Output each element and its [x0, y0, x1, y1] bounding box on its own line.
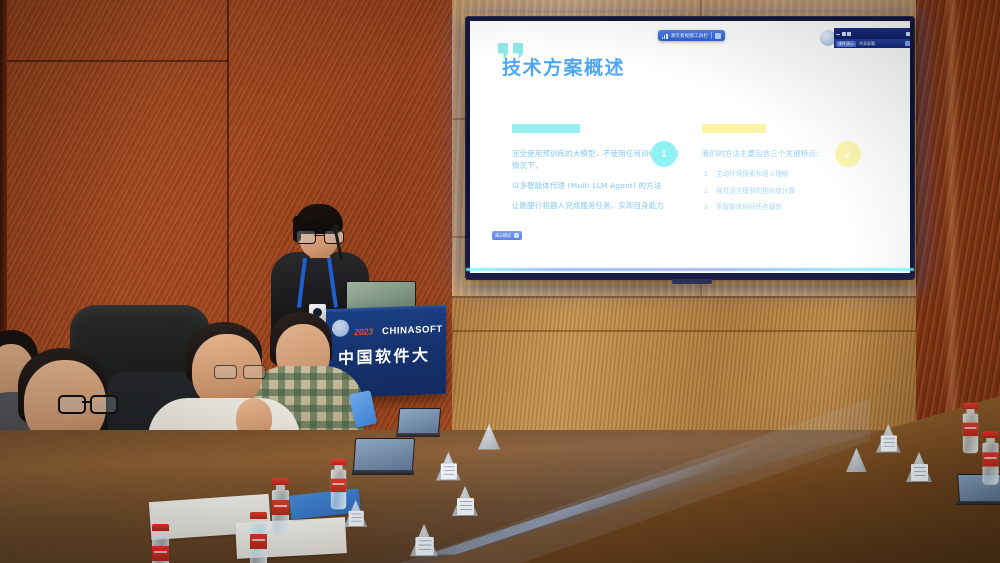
tab-courseware[interactable]: 课件演示	[836, 41, 856, 47]
conference-logo-icon	[332, 319, 349, 337]
list-number: 3.	[704, 202, 710, 214]
slide-canvas: 技术方案概述 演示者视图工具栏	[470, 21, 910, 273]
window-extra-control[interactable]	[906, 32, 910, 36]
conference-room-photo: 技术方案概述 演示者视图工具栏	[0, 0, 1000, 563]
display-stand	[672, 279, 712, 284]
tab-screenshare[interactable]: 共享屏幕	[859, 41, 875, 47]
meeting-window-overlay[interactable]: 课件演示 共享屏幕	[820, 28, 908, 50]
presentation-display[interactable]: 技术方案概述 演示者视图工具栏	[470, 21, 910, 273]
list-text: 主动环境探索和语义理解	[716, 171, 789, 178]
water-bottle	[152, 524, 169, 563]
list-number: 1.	[704, 169, 710, 181]
minimize-icon	[836, 34, 840, 35]
water-bottle	[272, 478, 289, 534]
wainscot-top-line	[452, 296, 922, 298]
attendee-center-glasses	[214, 365, 264, 378]
display-bottom-edge-glow	[466, 268, 914, 271]
wall-seam-vertical-1	[227, 0, 229, 325]
podium-year: 2023	[354, 327, 373, 338]
quote-mark-decoration	[498, 43, 523, 60]
window-tab-bar[interactable]: 课件演示 共享屏幕	[834, 39, 910, 48]
list-number: 2.	[704, 186, 710, 198]
presenter-toolbar[interactable]: 演示者视图工具栏	[658, 30, 725, 41]
list-item: 1. 主动环境探索和语义理解	[702, 169, 877, 181]
water-bottle	[982, 431, 998, 484]
slide-right-column: 我们的方法主要包含三个关键特点: 1. 主动环境探索和语义理解 2. 视觉语言模…	[702, 124, 877, 219]
right-column-list: 1. 主动环境探索和语义理解 2. 视觉语言模型的相似度计算 3. 多智能体协同…	[702, 169, 877, 214]
left-column-tag	[512, 124, 580, 133]
list-text: 视觉语言模型的相似度计算	[716, 188, 795, 195]
close-icon	[847, 32, 851, 36]
toolbar-divider	[711, 32, 712, 39]
attendee-laptop-2	[396, 408, 440, 440]
slide-status-badge[interactable]: 演示模式	[492, 231, 522, 240]
water-bottle	[963, 403, 978, 453]
water-bottle	[250, 512, 267, 563]
wainscot-line-2	[452, 330, 922, 332]
wall-seam-horizontal	[0, 60, 228, 62]
maximize-icon	[842, 32, 846, 36]
attendee-front-left-glasses	[58, 395, 114, 411]
window-controls[interactable]	[836, 32, 851, 36]
screen-share-icon[interactable]	[715, 33, 721, 39]
signal-icon	[662, 33, 668, 39]
list-item: 3. 多智能体协同任务规划	[702, 202, 877, 214]
list-item: 2. 视觉语言模型的相似度计算	[702, 186, 877, 198]
left-para-2: 以多智能体代理 (Multi LLM Agent) 的方法	[512, 180, 682, 192]
right-column-number-badge: 2	[835, 141, 861, 167]
left-column-number-badge: 1	[651, 141, 677, 167]
presenter-toolbar-label: 演示者视图工具栏	[671, 33, 709, 39]
list-text: 多智能体协同任务规划	[716, 204, 782, 211]
settings-icon[interactable]	[905, 41, 910, 46]
slide-left-column: 完全使用预训练的大模型，不使用任何训练数据的情况下， 以多智能体代理 (Mult…	[512, 124, 682, 220]
window-title-bar[interactable]	[834, 28, 910, 39]
podium-brand: CHINASOFT	[382, 324, 443, 337]
left-para-3: 让跑腿行机器人完成服务任务，实现自身能力	[512, 200, 682, 212]
screen-icon	[514, 233, 519, 238]
slide-status-label: 演示模式	[495, 233, 511, 239]
water-bottle	[331, 459, 346, 509]
attendee-laptop-1	[352, 438, 414, 478]
right-column-tag	[702, 124, 766, 133]
panel-icon	[906, 32, 910, 36]
wood-column-highlight	[944, 0, 960, 430]
